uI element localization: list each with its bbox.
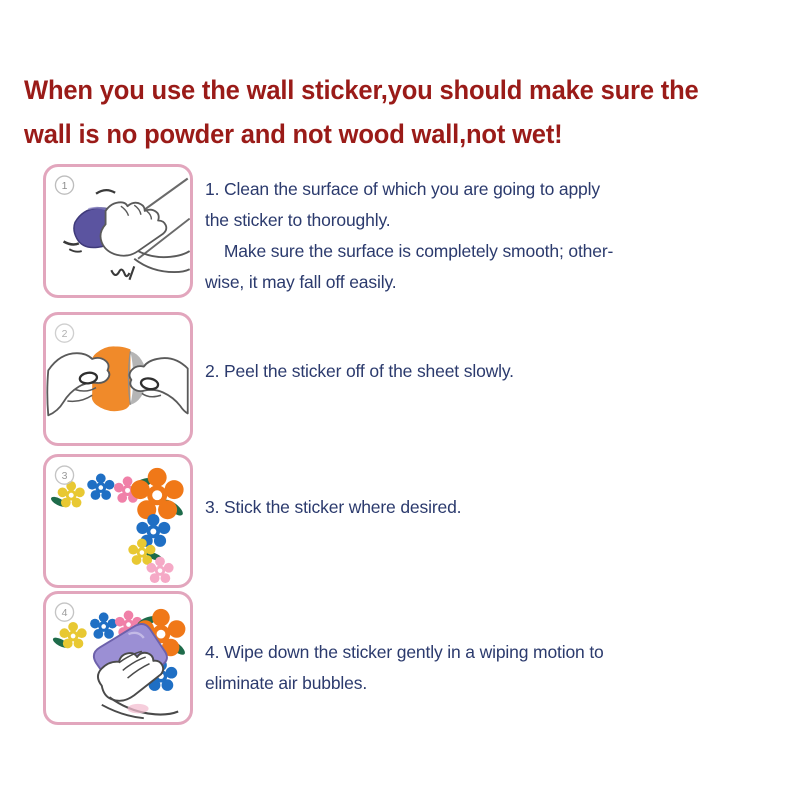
svg-text:3: 3 [62, 470, 68, 482]
step-badge-2: 2 [55, 324, 73, 342]
step-text-line: 4. Wipe down the sticker gently in a wip… [205, 637, 765, 668]
step-badge-1: 1 [55, 176, 73, 194]
step-badge-3: 3 [55, 466, 73, 484]
headline-line-1: When you use the wall sticker,you should… [24, 68, 746, 112]
step-1-illustration: 1 [43, 164, 193, 298]
list-item: 1 1. Clean the surface of which you are … [0, 162, 800, 310]
step-text-line: the sticker to thoroughly. [205, 205, 765, 236]
list-item: 4 4. Wipe down the sticker gently in a w… [0, 589, 800, 729]
step-3-illustration: 3 [43, 454, 193, 588]
step-text-line: 3. Stick the sticker where desired. [205, 492, 765, 523]
svg-text:1: 1 [62, 180, 68, 192]
step-3-text: 3. Stick the sticker where desired. [205, 492, 765, 523]
instruction-sheet: When you use the wall sticker,you should… [0, 0, 800, 800]
step-text-line: wise, it may fall off easily. [205, 267, 765, 298]
step-text-line: Make sure the surface is completely smoo… [205, 236, 765, 267]
steps-list: 1 1. Clean the surface of which you are … [0, 162, 800, 729]
step-text-line: 2. Peel the sticker off of the sheet slo… [205, 356, 765, 387]
step-2-text: 2. Peel the sticker off of the sheet slo… [205, 356, 765, 387]
step-2-illustration: 2 [43, 312, 193, 446]
step-text-line: eliminate air bubbles. [205, 668, 765, 699]
step-text-line: 1. Clean the surface of which you are go… [205, 174, 765, 205]
step-4-text: 4. Wipe down the sticker gently in a wip… [205, 637, 765, 699]
svg-text:4: 4 [62, 607, 68, 619]
step-1-text: 1. Clean the surface of which you are go… [205, 174, 765, 298]
headline-line-2: wall is no powder and not wood wall,not … [24, 112, 746, 156]
step-badge-4: 4 [55, 603, 73, 621]
svg-text:2: 2 [62, 328, 68, 340]
list-item: 3 3. Stick the sticker where desired. [0, 452, 800, 589]
list-item: 2 2. Peel the sticker off of the sheet s… [0, 310, 800, 452]
step-4-illustration: 4 [43, 591, 193, 725]
page-title: When you use the wall sticker,you should… [24, 68, 746, 156]
